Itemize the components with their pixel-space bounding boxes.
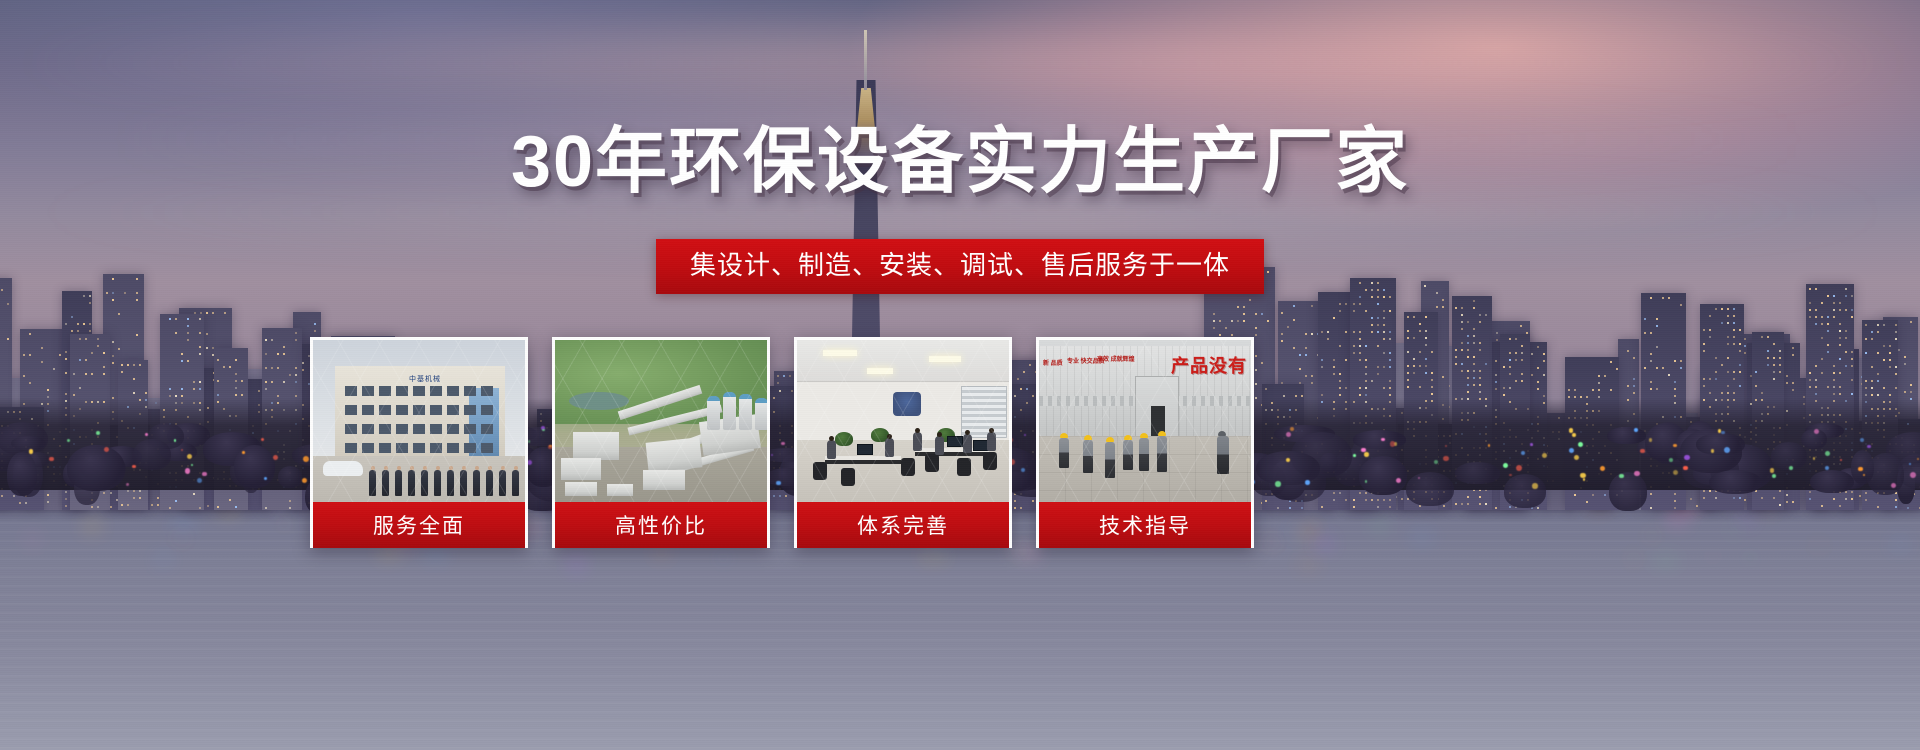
riverside-tree bbox=[1359, 456, 1407, 495]
water-reflection bbox=[1653, 558, 1678, 563]
shore-light bbox=[1434, 460, 1438, 464]
building-window bbox=[413, 424, 425, 434]
shore-light bbox=[1365, 480, 1367, 482]
water-reflection bbox=[158, 557, 168, 563]
water-reflection bbox=[380, 549, 398, 556]
office-chair bbox=[925, 454, 939, 472]
office-chair bbox=[957, 458, 971, 476]
shore-light bbox=[1683, 466, 1688, 471]
building-window bbox=[345, 443, 357, 453]
staff-person bbox=[447, 470, 454, 496]
shore-light bbox=[1673, 470, 1679, 476]
shore-light bbox=[1381, 438, 1384, 441]
shore-light bbox=[1542, 453, 1548, 459]
shore-light bbox=[202, 472, 207, 477]
building-window bbox=[362, 386, 374, 396]
shore-light bbox=[264, 477, 267, 480]
subtitle-ribbon: 集设计、制造、安装、调试、售后服务于一体 bbox=[656, 239, 1264, 294]
building-window bbox=[481, 386, 493, 396]
staff-person bbox=[473, 470, 480, 496]
riverside-tree bbox=[1609, 472, 1647, 510]
shore-light bbox=[191, 464, 193, 466]
shore-light bbox=[1634, 471, 1639, 476]
factory-worker bbox=[1139, 438, 1149, 471]
shore-light bbox=[29, 449, 33, 453]
ceiling-light bbox=[823, 350, 857, 356]
shore-light bbox=[1711, 449, 1714, 452]
riverside-tree bbox=[1256, 451, 1319, 486]
staff-person bbox=[434, 470, 441, 496]
water-reflection bbox=[272, 516, 281, 519]
water-reflection bbox=[1373, 520, 1386, 532]
riverside-tree bbox=[1696, 433, 1744, 455]
shore-light bbox=[1825, 451, 1830, 456]
shore-light bbox=[96, 431, 101, 436]
water-reflection bbox=[425, 551, 447, 558]
parked-car bbox=[323, 461, 363, 476]
shore-light bbox=[1891, 483, 1896, 488]
water-reflection bbox=[1264, 541, 1279, 544]
water-reflection bbox=[1298, 559, 1320, 570]
building-window bbox=[430, 424, 442, 434]
factory-supervisor bbox=[1217, 436, 1229, 474]
water-reflection bbox=[174, 521, 193, 530]
building-window bbox=[345, 424, 357, 434]
shore-light bbox=[1443, 456, 1449, 462]
plant-silo bbox=[755, 398, 767, 430]
shore-light bbox=[1574, 455, 1580, 461]
riverside-tree bbox=[7, 452, 37, 496]
shore-light bbox=[1390, 441, 1396, 447]
office-worker bbox=[935, 436, 944, 455]
building-window bbox=[379, 424, 391, 434]
card-label: 技术指导 bbox=[1039, 502, 1251, 548]
ceiling-light bbox=[929, 356, 961, 362]
plant-silo bbox=[723, 392, 736, 430]
feature-card[interactable]: 体系完善 bbox=[794, 337, 1012, 548]
water-reflection bbox=[1025, 549, 1038, 560]
plant-structure bbox=[561, 458, 601, 480]
riverside-tree bbox=[1504, 474, 1546, 507]
riverside-tree bbox=[1406, 472, 1454, 506]
water-reflection bbox=[1410, 533, 1434, 541]
office-worker bbox=[987, 432, 996, 451]
shore-light bbox=[1364, 452, 1369, 457]
office-chair bbox=[901, 458, 915, 476]
office-chair bbox=[841, 468, 855, 486]
factory-worker bbox=[1123, 440, 1133, 470]
water-reflection bbox=[923, 553, 949, 558]
shore-light bbox=[1858, 467, 1862, 471]
shore-light bbox=[1286, 432, 1291, 437]
shore-light bbox=[1509, 474, 1512, 477]
building-window bbox=[447, 405, 459, 415]
feature-card[interactable]: 高性价比 bbox=[552, 337, 770, 548]
shore-light bbox=[1825, 466, 1829, 470]
shore-light bbox=[1569, 448, 1574, 453]
building-window bbox=[396, 443, 408, 453]
factory-slogan: 新 品质 bbox=[1043, 360, 1063, 369]
card-thumbnail-office-building: 中基机械 bbox=[313, 340, 525, 502]
riverside-tree bbox=[1709, 470, 1762, 495]
shore-light bbox=[197, 478, 202, 483]
water-reflection bbox=[1286, 530, 1304, 538]
building-window bbox=[362, 424, 374, 434]
water-reflection bbox=[921, 553, 946, 560]
building-window bbox=[413, 405, 425, 415]
staff-person bbox=[395, 470, 402, 496]
water-reflection bbox=[1669, 513, 1686, 523]
shore-light bbox=[1396, 478, 1401, 483]
plant-structure bbox=[643, 470, 685, 490]
office-worker bbox=[885, 438, 894, 457]
shore-light bbox=[1673, 444, 1677, 448]
riverside-tree bbox=[1607, 427, 1646, 443]
shore-light bbox=[1684, 455, 1690, 461]
wall-logo bbox=[893, 392, 921, 416]
staff-person bbox=[421, 470, 428, 496]
building-window bbox=[481, 424, 493, 434]
plant-structure bbox=[573, 432, 619, 460]
water-reflection bbox=[83, 520, 101, 533]
staff-person bbox=[408, 470, 415, 496]
office-plant bbox=[835, 432, 853, 446]
shore-light bbox=[185, 468, 190, 473]
shore-light bbox=[1580, 473, 1586, 479]
building-window bbox=[379, 443, 391, 453]
building-window bbox=[464, 443, 476, 453]
building-window bbox=[447, 424, 459, 434]
water-reflection bbox=[25, 534, 40, 546]
factory-slogan: 高效 成就辉煌 bbox=[1097, 356, 1135, 365]
building-window bbox=[362, 405, 374, 415]
shore-light bbox=[1813, 457, 1816, 460]
water-reflection bbox=[1010, 548, 1036, 555]
page-title: 30年环保设备实力生产厂家 bbox=[0, 102, 1920, 207]
shore-light bbox=[1789, 466, 1793, 470]
shore-light bbox=[1532, 483, 1537, 488]
factory-worker bbox=[1105, 442, 1115, 478]
shore-light bbox=[1770, 468, 1774, 472]
building-window bbox=[447, 386, 459, 396]
shore-light bbox=[1724, 447, 1730, 453]
riverside-tree bbox=[1810, 470, 1855, 493]
feature-card[interactable]: 中基机械 服务全面 bbox=[310, 337, 528, 548]
staff-person bbox=[512, 470, 519, 496]
building-window bbox=[430, 386, 442, 396]
shore-light bbox=[1578, 442, 1583, 447]
feature-card-list: 中基机械 服务全面 高性价比 bbox=[310, 337, 1254, 548]
card-label: 服务全面 bbox=[313, 502, 525, 548]
staff-person bbox=[369, 470, 376, 496]
feature-card[interactable]: 产品没有 新 品质 专业 快交品质 高效 成就辉煌 技术指导 bbox=[1036, 337, 1254, 548]
riverside-tree bbox=[11, 436, 45, 450]
laptop bbox=[857, 444, 873, 455]
shore-light bbox=[67, 439, 70, 442]
water-reflection bbox=[1747, 556, 1753, 560]
shore-light bbox=[1772, 474, 1776, 478]
staff-person bbox=[499, 470, 506, 496]
plant-structure bbox=[646, 437, 703, 472]
factory-sign-text: 产品没有 bbox=[1171, 352, 1247, 378]
office-chair bbox=[813, 462, 827, 480]
water-reflection bbox=[1647, 533, 1656, 538]
factory-worker bbox=[1083, 440, 1093, 473]
water-reflection bbox=[1631, 552, 1636, 565]
office-worker bbox=[963, 434, 972, 453]
shore-light bbox=[187, 454, 192, 459]
shore-light bbox=[1860, 438, 1864, 442]
riverside-tree bbox=[278, 466, 302, 488]
water-reflection bbox=[1708, 553, 1718, 559]
shore-light bbox=[145, 433, 148, 436]
plant-silo bbox=[707, 396, 720, 430]
shore-light bbox=[1569, 428, 1574, 433]
water-reflection bbox=[1893, 540, 1908, 548]
shore-light bbox=[1530, 443, 1533, 446]
shore-light bbox=[132, 465, 135, 468]
building-window bbox=[413, 443, 425, 453]
building-window bbox=[430, 405, 442, 415]
subtitle-ribbon-wrap: 集设计、制造、安装、调试、售后服务于一体 bbox=[0, 239, 1920, 294]
shore-light bbox=[261, 438, 264, 441]
card-thumbnail-plant-aerial bbox=[555, 340, 767, 502]
shore-light bbox=[1488, 444, 1491, 447]
office-worker bbox=[827, 440, 836, 459]
shore-light bbox=[1619, 474, 1623, 478]
shore-light bbox=[1521, 451, 1525, 455]
building-window bbox=[481, 405, 493, 415]
shore-light bbox=[242, 451, 245, 454]
building-window bbox=[396, 386, 408, 396]
office-desk bbox=[825, 456, 901, 464]
card-label: 高性价比 bbox=[555, 502, 767, 548]
water-reflection bbox=[282, 521, 287, 527]
building-window bbox=[396, 424, 408, 434]
shore-light bbox=[1600, 466, 1605, 471]
shore-light bbox=[1572, 433, 1576, 437]
shore-light bbox=[1867, 445, 1871, 449]
shore-light bbox=[1840, 459, 1842, 461]
card-thumbnail-factory-workers: 产品没有 新 品质 专业 快交品质 高效 成就辉煌 bbox=[1039, 340, 1251, 502]
shore-light bbox=[49, 457, 54, 462]
building-window bbox=[379, 386, 391, 396]
riverside-tree bbox=[67, 445, 125, 490]
building-window bbox=[345, 405, 357, 415]
water-reflection bbox=[1298, 528, 1316, 537]
plant-structure bbox=[607, 484, 633, 496]
water-reflection bbox=[656, 549, 666, 555]
office-worker bbox=[913, 432, 922, 451]
office-chair bbox=[983, 452, 997, 470]
ceiling-light bbox=[867, 368, 893, 374]
building-window bbox=[362, 443, 374, 453]
factory-worker bbox=[1157, 436, 1167, 472]
staff-person bbox=[460, 470, 467, 496]
shore-light bbox=[1503, 463, 1508, 468]
water-reflection bbox=[173, 536, 189, 540]
shore-light bbox=[1445, 445, 1447, 447]
monitor bbox=[947, 436, 963, 447]
building-window bbox=[430, 443, 442, 453]
riverside-tree bbox=[234, 445, 275, 488]
staff-person bbox=[486, 470, 493, 496]
building-sign-text: 中基机械 bbox=[409, 374, 441, 384]
shore-light bbox=[1286, 458, 1290, 462]
shore-light bbox=[1361, 448, 1365, 452]
building-window bbox=[413, 386, 425, 396]
plant-silo bbox=[739, 394, 752, 430]
card-thumbnail-office-interior bbox=[797, 340, 1009, 502]
staff-person bbox=[382, 470, 389, 496]
riverside-tree bbox=[1455, 462, 1500, 483]
shore-light bbox=[1275, 481, 1281, 487]
water-reflection bbox=[1816, 543, 1822, 548]
plant-structure bbox=[565, 482, 597, 496]
building-window bbox=[464, 386, 476, 396]
shore-light bbox=[1649, 438, 1652, 441]
card-label: 体系完善 bbox=[797, 502, 1009, 548]
water-reflection bbox=[1318, 539, 1331, 548]
building-window bbox=[379, 405, 391, 415]
building-window bbox=[464, 424, 476, 434]
shore-light bbox=[1669, 458, 1673, 462]
shore-light bbox=[126, 483, 129, 486]
building-window bbox=[345, 386, 357, 396]
building-window bbox=[396, 405, 408, 415]
factory-worker bbox=[1059, 438, 1069, 468]
shore-light bbox=[1583, 478, 1586, 481]
building-window bbox=[447, 443, 459, 453]
water-reflection bbox=[568, 559, 584, 570]
building-window bbox=[464, 405, 476, 415]
hero-banner: 30年环保设备实力生产厂家 集设计、制造、安装、调试、售后服务于一体 中基机械 … bbox=[0, 0, 1920, 750]
shore-light bbox=[1516, 465, 1522, 471]
water-reflection bbox=[1312, 522, 1319, 528]
riverside-tree bbox=[133, 439, 172, 470]
water-reflection bbox=[1741, 515, 1752, 522]
shore-light bbox=[273, 455, 278, 460]
shore-light bbox=[302, 478, 307, 483]
water-reflection bbox=[1728, 529, 1740, 534]
building-window bbox=[481, 443, 493, 453]
water-reflection bbox=[718, 555, 729, 561]
pond bbox=[569, 392, 629, 410]
riverside-tree bbox=[1353, 430, 1405, 449]
